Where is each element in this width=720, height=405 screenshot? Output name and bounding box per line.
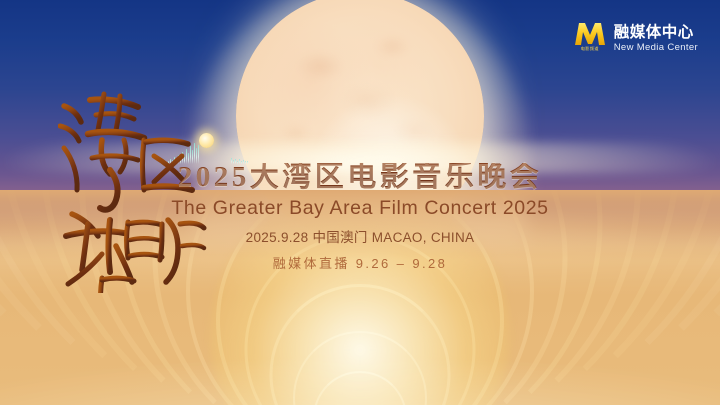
page-title-en: The Greater Bay Area Film Concert 2025 <box>0 199 720 219</box>
movie-channel-m-icon: 电影频道 <box>573 22 607 56</box>
movie-channel-label: 电影频道 <box>581 47 599 51</box>
logo-text-group: 融媒体中心 New Media Center <box>614 25 698 53</box>
concert-poster: 2025大湾区电影音乐晚会 The Greater Bay Area Film … <box>0 0 720 405</box>
title-block: 2025大湾区电影音乐晚会 The Greater Bay Area Film … <box>0 163 720 270</box>
logo-name-cn: 融媒体中心 <box>614 25 698 42</box>
logo-name-en: New Media Center <box>614 43 698 53</box>
date-location-text: 2025.9.28 中国澳门 MACAO, CHINA <box>0 231 720 245</box>
new-media-center-logo: 电影频道 融媒体中心 New Media Center <box>573 22 698 56</box>
live-broadcast-text: 融媒体直播 9.26 – 9.28 <box>0 257 720 270</box>
page-title-cn: 2025大湾区电影音乐晚会 <box>0 163 720 192</box>
